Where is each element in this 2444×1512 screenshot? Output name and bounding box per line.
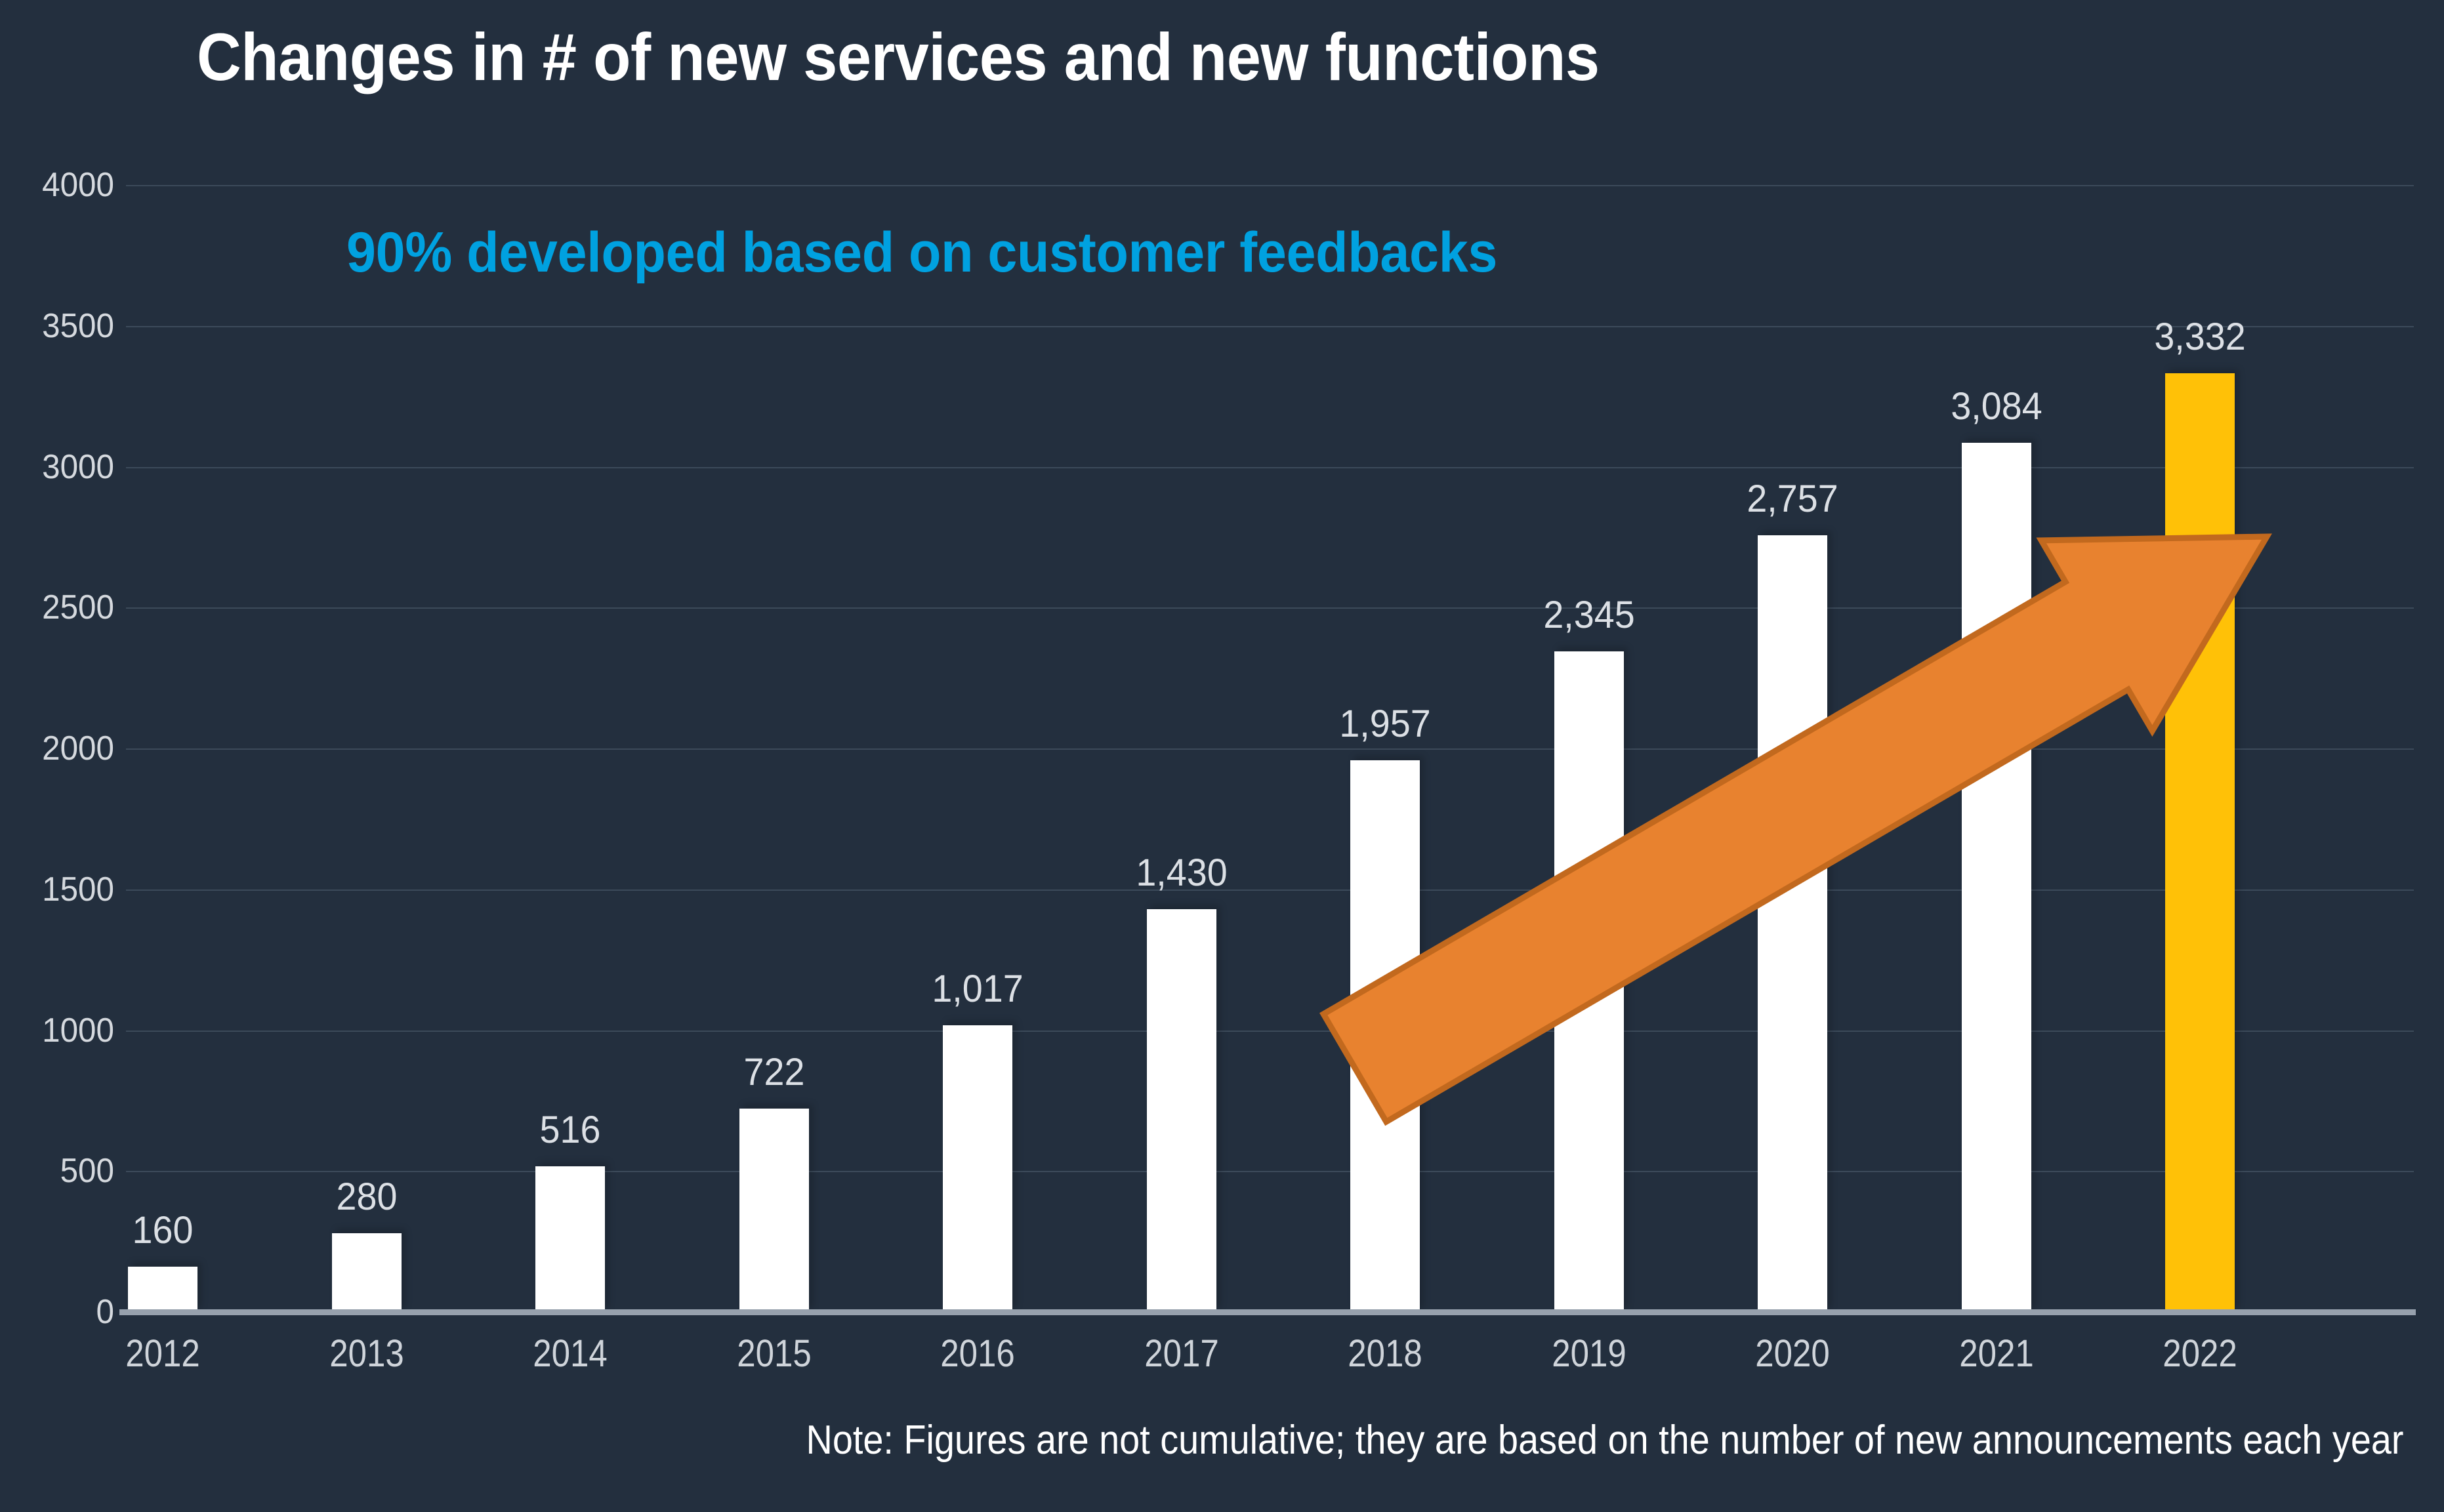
x-axis-tick-label: 2013 xyxy=(268,1335,465,1373)
x-axis-tick-label: 2015 xyxy=(676,1335,872,1373)
bar-value-label: 516 xyxy=(463,1111,677,1149)
bar[interactable] xyxy=(128,1267,197,1312)
x-axis-tick-label: 2017 xyxy=(1083,1335,1279,1373)
bar-value-label: 1,430 xyxy=(1074,854,1288,892)
bar[interactable] xyxy=(535,1166,605,1312)
bar[interactable] xyxy=(1962,443,2031,1312)
x-axis-line xyxy=(119,1309,2416,1315)
x-axis-tick-label: 2018 xyxy=(1287,1335,1483,1373)
chart-canvas: Changes in # of new services and new fun… xyxy=(0,0,2444,1512)
x-axis-tick-label: 2014 xyxy=(472,1335,668,1373)
gridline xyxy=(126,748,2414,750)
bar-highlight[interactable] xyxy=(2165,373,2235,1312)
bar-value-label: 160 xyxy=(56,1212,270,1250)
bar[interactable] xyxy=(1758,535,1827,1312)
bar-value-label: 3,084 xyxy=(1889,388,2103,426)
x-axis-tick-label: 2012 xyxy=(64,1335,260,1373)
gridline xyxy=(126,1171,2414,1172)
bar-value-label: 280 xyxy=(259,1178,473,1216)
y-axis-tick-label: 3000 xyxy=(0,450,114,484)
chart-title: Changes in # of new services and new fun… xyxy=(197,21,1947,93)
bar[interactable] xyxy=(739,1109,809,1312)
y-axis-tick-label: 4000 xyxy=(0,168,114,202)
x-axis-tick-label: 2022 xyxy=(2102,1335,2298,1373)
y-axis-tick-label: 1000 xyxy=(0,1013,114,1048)
bar-value-label: 1,957 xyxy=(1278,705,1492,743)
bar-value-label: 722 xyxy=(667,1053,880,1092)
bar[interactable] xyxy=(1554,651,1624,1312)
bar[interactable] xyxy=(943,1025,1012,1312)
bar-value-label: 2,345 xyxy=(1481,596,1695,634)
gridline xyxy=(126,467,2414,468)
chart-note: Note: Figures are not cumulative; they a… xyxy=(0,1417,2444,1464)
x-axis-tick-label: 2020 xyxy=(1694,1335,1890,1373)
y-axis-tick-label: 1500 xyxy=(0,872,114,907)
chart-note-text: Note: Figures are not cumulative; they a… xyxy=(806,1417,2403,1464)
bar-value-label: 1,017 xyxy=(871,970,1085,1008)
bar-value-label: 2,757 xyxy=(1686,480,1899,518)
y-axis-tick-label: 500 xyxy=(0,1154,114,1188)
x-axis-tick-label: 2021 xyxy=(1898,1335,2094,1373)
y-axis-tick-label: 2500 xyxy=(0,590,114,624)
bar[interactable] xyxy=(1147,909,1216,1312)
plot-area: 05001000150020002500300035004000 1602805… xyxy=(126,185,2414,1312)
bar[interactable] xyxy=(332,1233,402,1312)
y-axis-tick-label: 0 xyxy=(0,1295,114,1329)
gridline xyxy=(126,607,2414,609)
gridline xyxy=(126,185,2414,186)
x-axis-tick-label: 2019 xyxy=(1491,1335,1687,1373)
x-axis-tick-label: 2016 xyxy=(879,1335,1075,1373)
gridline xyxy=(126,1031,2414,1032)
gridline xyxy=(126,326,2414,327)
y-axis-tick-label: 3500 xyxy=(0,309,114,343)
bar-value-label: 3,332 xyxy=(2093,318,2307,356)
y-axis-tick-label: 2000 xyxy=(0,731,114,766)
bar[interactable] xyxy=(1350,760,1420,1312)
